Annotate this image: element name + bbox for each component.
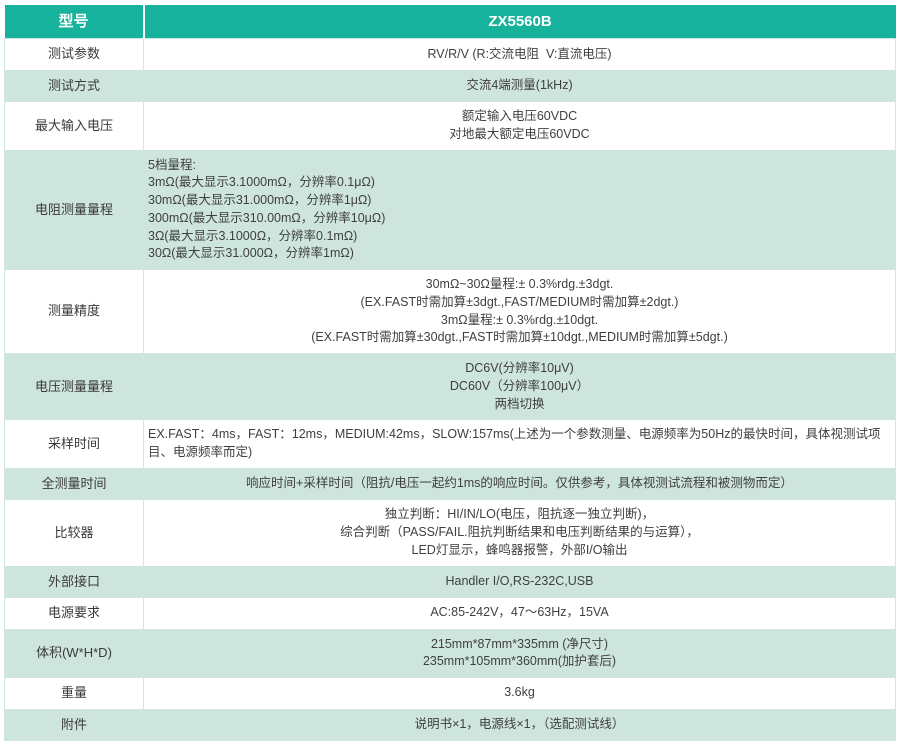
spec-value-line: 3mΩ(最大显示3.1000mΩ，分辨率0.1μΩ) — [148, 174, 891, 192]
spec-value-line: 额定输入电压60VDC — [152, 108, 887, 126]
spec-label-cell: 测试方式 — [5, 70, 144, 101]
spec-label-cell: 最大输入电压 — [5, 102, 144, 151]
spec-value-line: 300mΩ(最大显示310.00mΩ，分辨率10μΩ) — [148, 210, 891, 228]
spec-value-cell: 额定输入电压60VDC对地最大额定电压60VDC — [144, 102, 896, 151]
table-row: 比较器独立判断：HI/IN/LO(电压，阻抗逐一独立判断)，综合判断（PASS/… — [5, 500, 896, 566]
spec-value-line: 30mΩ(最大显示31.000mΩ，分辨率1μΩ) — [148, 192, 891, 210]
spec-value-line: 3mΩ量程:± 0.3%rdg.±10dgt. — [152, 312, 887, 330]
spec-label-cell: 电源要求 — [5, 598, 144, 629]
spec-label-cell: 测量精度 — [5, 270, 144, 354]
table-row: 电阻测量量程5档量程:3mΩ(最大显示3.1000mΩ，分辨率0.1μΩ)30m… — [5, 150, 896, 270]
spec-value-line: 两档切换 — [152, 396, 887, 414]
table-row: 电压测量量程DC6V(分辨率10μV)DC60V（分辨率100μV）两档切换 — [5, 354, 896, 420]
header-model-cell: ZX5560B — [144, 5, 896, 39]
spec-value-cell: 响应时间+采样时间（阻抗/电压一起约1ms的响应时间。仅供参考，具体视测试流程和… — [144, 468, 896, 499]
spec-value-line: 对地最大额定电压60VDC — [152, 126, 887, 144]
spec-label-cell: 体积(W*H*D) — [5, 629, 144, 678]
table-row: 附件说明书×1，电源线×1，（选配测试线） — [5, 709, 896, 740]
spec-value-cell: 5档量程:3mΩ(最大显示3.1000mΩ，分辨率0.1μΩ)30mΩ(最大显示… — [144, 150, 896, 270]
spec-value-line: 综合判断（PASS/FAIL.阻抗判断结果和电压判断结果的与运算）， — [152, 524, 887, 542]
spec-value-line: DC6V(分辨率10μV) — [152, 360, 887, 378]
specification-table: 型号 ZX5560B 测试参数RV/R/V (R:交流电阻 V:直流电压)测试方… — [4, 5, 896, 741]
spec-value-cell: EX.FAST：4ms，FAST：12ms，MEDIUM:42ms，SLOW:1… — [144, 420, 896, 469]
spec-label-cell: 比较器 — [5, 500, 144, 566]
spec-value-line: AC:85-242V，47～63Hz，15VA — [152, 604, 887, 622]
spec-label-cell: 采样时间 — [5, 420, 144, 469]
spec-label-cell: 电压测量量程 — [5, 354, 144, 420]
table-row: 外部接口Handler I/O,RS-232C,USB — [5, 566, 896, 597]
spec-label-cell: 外部接口 — [5, 566, 144, 597]
spec-value-line: 独立判断：HI/IN/LO(电压，阻抗逐一独立判断)， — [152, 506, 887, 524]
spec-label-cell: 重量 — [5, 678, 144, 709]
spec-value-line: (EX.FAST时需加算±3dgt.,FAST/MEDIUM时需加算±2dgt.… — [152, 294, 887, 312]
spec-value-cell: 215mm*87mm*335mm (净尺寸)235mm*105mm*360mm(… — [144, 629, 896, 678]
spec-value-line: DC60V（分辨率100μV） — [152, 378, 887, 396]
table-row: 最大输入电压额定输入电压60VDC对地最大额定电压60VDC — [5, 102, 896, 151]
spec-value-line: 说明书×1，电源线×1，（选配测试线） — [152, 716, 887, 734]
spec-value-line: 3Ω(最大显示3.1000Ω，分辨率0.1mΩ) — [148, 228, 891, 246]
spec-value-line: 30mΩ~30Ω量程:± 0.3%rdg.±3dgt. — [152, 276, 887, 294]
spec-label-cell: 电阻测量量程 — [5, 150, 144, 270]
spec-value-line: 215mm*87mm*335mm (净尺寸) — [152, 636, 887, 654]
table-row: 电源要求AC:85-242V，47～63Hz，15VA — [5, 598, 896, 629]
table-body: 型号 ZX5560B 测试参数RV/R/V (R:交流电阻 V:直流电压)测试方… — [5, 5, 896, 740]
spec-value-cell: 30mΩ~30Ω量程:± 0.3%rdg.±3dgt.(EX.FAST时需加算±… — [144, 270, 896, 354]
spec-value-cell: AC:85-242V，47～63Hz，15VA — [144, 598, 896, 629]
spec-value-cell: DC6V(分辨率10μV)DC60V（分辨率100μV）两档切换 — [144, 354, 896, 420]
table-row: 测试方式交流4端测量(1kHz) — [5, 70, 896, 101]
spec-label-cell: 全测量时间 — [5, 468, 144, 499]
table-row: 测试参数RV/R/V (R:交流电阻 V:直流电压) — [5, 39, 896, 70]
table-header-row: 型号 ZX5560B — [5, 5, 896, 39]
spec-value-line: 交流4端测量(1kHz) — [152, 77, 887, 95]
spec-value-line: (EX.FAST时需加算±30dgt.,FAST时需加算±10dgt.,MEDI… — [152, 329, 887, 347]
table-row: 测量精度30mΩ~30Ω量程:± 0.3%rdg.±3dgt.(EX.FAST时… — [5, 270, 896, 354]
spec-value-line: RV/R/V (R:交流电阻 V:直流电压) — [152, 46, 887, 64]
spec-value-cell: RV/R/V (R:交流电阻 V:直流电压) — [144, 39, 896, 70]
spec-value-line: Handler I/O,RS-232C,USB — [152, 573, 887, 591]
table-row: 全测量时间响应时间+采样时间（阻抗/电压一起约1ms的响应时间。仅供参考，具体视… — [5, 468, 896, 499]
header-label-cell: 型号 — [5, 5, 144, 39]
spec-value-cell: 3.6kg — [144, 678, 896, 709]
spec-value-line: 30Ω(最大显示31.000Ω，分辨率1mΩ) — [148, 245, 891, 263]
spec-value-cell: 说明书×1，电源线×1，（选配测试线） — [144, 709, 896, 740]
spec-value-line: LED灯显示，蜂鸣器报警，外部I/O输出 — [152, 542, 887, 560]
spec-value-cell: 独立判断：HI/IN/LO(电压，阻抗逐一独立判断)，综合判断（PASS/FAI… — [144, 500, 896, 566]
specification-table-container: 型号 ZX5560B 测试参数RV/R/V (R:交流电阻 V:直流电压)测试方… — [0, 0, 900, 728]
spec-value-line: 响应时间+采样时间（阻抗/电压一起约1ms的响应时间。仅供参考，具体视测试流程和… — [152, 475, 887, 493]
spec-value-line: 235mm*105mm*360mm(加护套后) — [152, 653, 887, 671]
spec-label-cell: 测试参数 — [5, 39, 144, 70]
table-row: 采样时间EX.FAST：4ms，FAST：12ms，MEDIUM:42ms，SL… — [5, 420, 896, 469]
spec-value-line: EX.FAST：4ms，FAST：12ms，MEDIUM:42ms，SLOW:1… — [148, 426, 891, 462]
spec-value-line: 5档量程: — [148, 157, 891, 175]
table-row: 重量3.6kg — [5, 678, 896, 709]
table-row: 体积(W*H*D)215mm*87mm*335mm (净尺寸)235mm*105… — [5, 629, 896, 678]
spec-value-cell: Handler I/O,RS-232C,USB — [144, 566, 896, 597]
spec-value-line: 3.6kg — [152, 684, 887, 702]
spec-label-cell: 附件 — [5, 709, 144, 740]
spec-value-cell: 交流4端测量(1kHz) — [144, 70, 896, 101]
